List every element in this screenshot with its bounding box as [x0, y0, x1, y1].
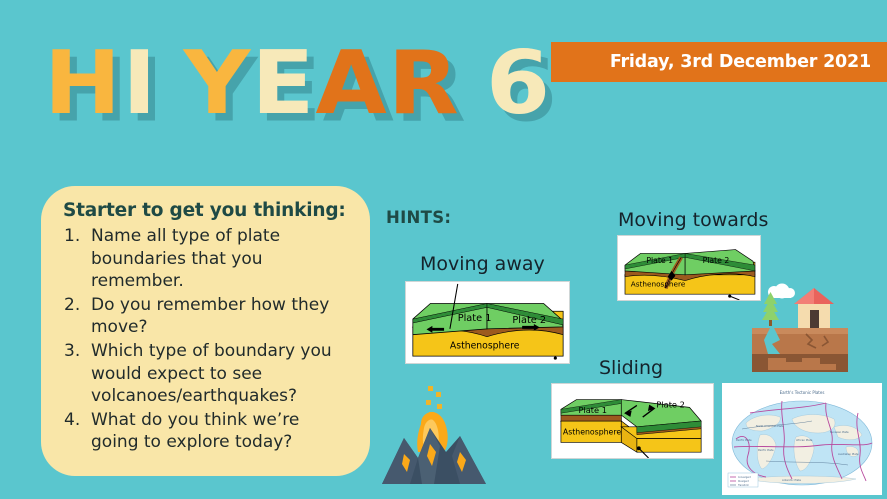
date-text: Friday, 3rd December 2021	[610, 52, 871, 72]
svg-text:Transform: Transform	[738, 484, 749, 487]
title-letter-r: R	[388, 40, 460, 127]
plate2-label: Plate 2	[512, 315, 546, 326]
hints-label: HINTS:	[386, 208, 451, 227]
starter-item-text: What do you think we’re going to explore…	[91, 409, 352, 454]
map-title: Earth's Tectonic Plates	[780, 390, 825, 395]
starter-item-text: Which type of boundary you would expect …	[91, 340, 352, 408]
title-letter-6: 6	[486, 40, 551, 127]
svg-text:Pacific Plate: Pacific Plate	[758, 448, 774, 452]
starter-item-number: 2.	[61, 294, 91, 339]
title-letter-a: A	[316, 40, 388, 127]
plate2-label: Plate 2	[703, 256, 730, 265]
presentation-slide: HIYEAR6 Friday, 3rd December 2021 Starte…	[0, 0, 887, 499]
starter-activity-box: Starter to get you thinking: 1.Name all …	[41, 186, 370, 476]
title-letter-e: E	[251, 40, 315, 127]
tectonic-plates-world-map: Earth's Tectonic Plates	[722, 383, 882, 495]
erupting-volcano-icon	[374, 380, 494, 492]
starter-question-item: 3.Which type of boundary you would expec…	[61, 340, 352, 408]
starter-item-number: 3.	[61, 340, 91, 408]
svg-text:Australian Plate: Australian Plate	[838, 452, 859, 456]
diagram-caption-moving-towards: Moving towards	[618, 209, 768, 231]
asthenosphere-label: Asthenosphere	[631, 279, 686, 288]
asthenosphere-label: Asthenosphere	[450, 340, 520, 351]
starter-question-item: 2.Do you remember how they move?	[61, 294, 352, 339]
plate2-label: Plate 2	[656, 399, 685, 409]
svg-text:Divergent: Divergent	[738, 480, 749, 483]
starter-question-item: 1.Name all type of plate boundaries that…	[61, 225, 352, 293]
starter-item-number: 1.	[61, 225, 91, 293]
plate1-label: Plate 1	[646, 256, 673, 265]
transform-boundary-diagram: Plate 1 Plate 2 Asthenosphere	[551, 383, 714, 459]
svg-text:Pacific Plate: Pacific Plate	[736, 438, 752, 442]
plate1-label: Plate 1	[458, 313, 492, 324]
starter-question-item: 4.What do you think we’re going to explo…	[61, 409, 352, 454]
diagram-caption-moving-away: Moving away	[420, 253, 545, 275]
svg-text:Eurasian Plate: Eurasian Plate	[830, 430, 849, 434]
house-icon	[794, 288, 834, 328]
starter-heading: Starter to get you thinking:	[63, 200, 352, 221]
svg-text:African Plate: African Plate	[796, 438, 813, 442]
date-banner: Friday, 3rd December 2021	[551, 42, 887, 82]
starter-item-number: 4.	[61, 409, 91, 454]
diagram-caption-sliding: Sliding	[599, 357, 663, 379]
starter-item-text: Name all type of plate boundaries that y…	[91, 225, 352, 293]
page-title: HIYEAR6	[44, 40, 551, 127]
asthenosphere-label: Asthenosphere	[563, 428, 621, 437]
divergent-boundary-diagram: Plate 1 Plate 2 Asthenosphere	[405, 281, 570, 364]
svg-text:North American Plate: North American Plate	[756, 424, 784, 428]
starter-question-list: 1.Name all type of plate boundaries that…	[61, 225, 352, 454]
title-letter-y: Y	[184, 40, 252, 127]
svg-text:Convergent: Convergent	[738, 476, 751, 479]
starter-item-text: Do you remember how they move?	[91, 294, 352, 339]
convergent-boundary-diagram: Plate 1 Plate 2 Asthenosphere	[617, 235, 761, 301]
svg-text:Antarctic Plate: Antarctic Plate	[782, 478, 801, 482]
title-letter-i: I	[122, 40, 157, 127]
plate1-label: Plate 1	[578, 405, 607, 415]
title-letter-h: H	[44, 40, 122, 127]
earthquake-damage-icon	[750, 278, 850, 374]
